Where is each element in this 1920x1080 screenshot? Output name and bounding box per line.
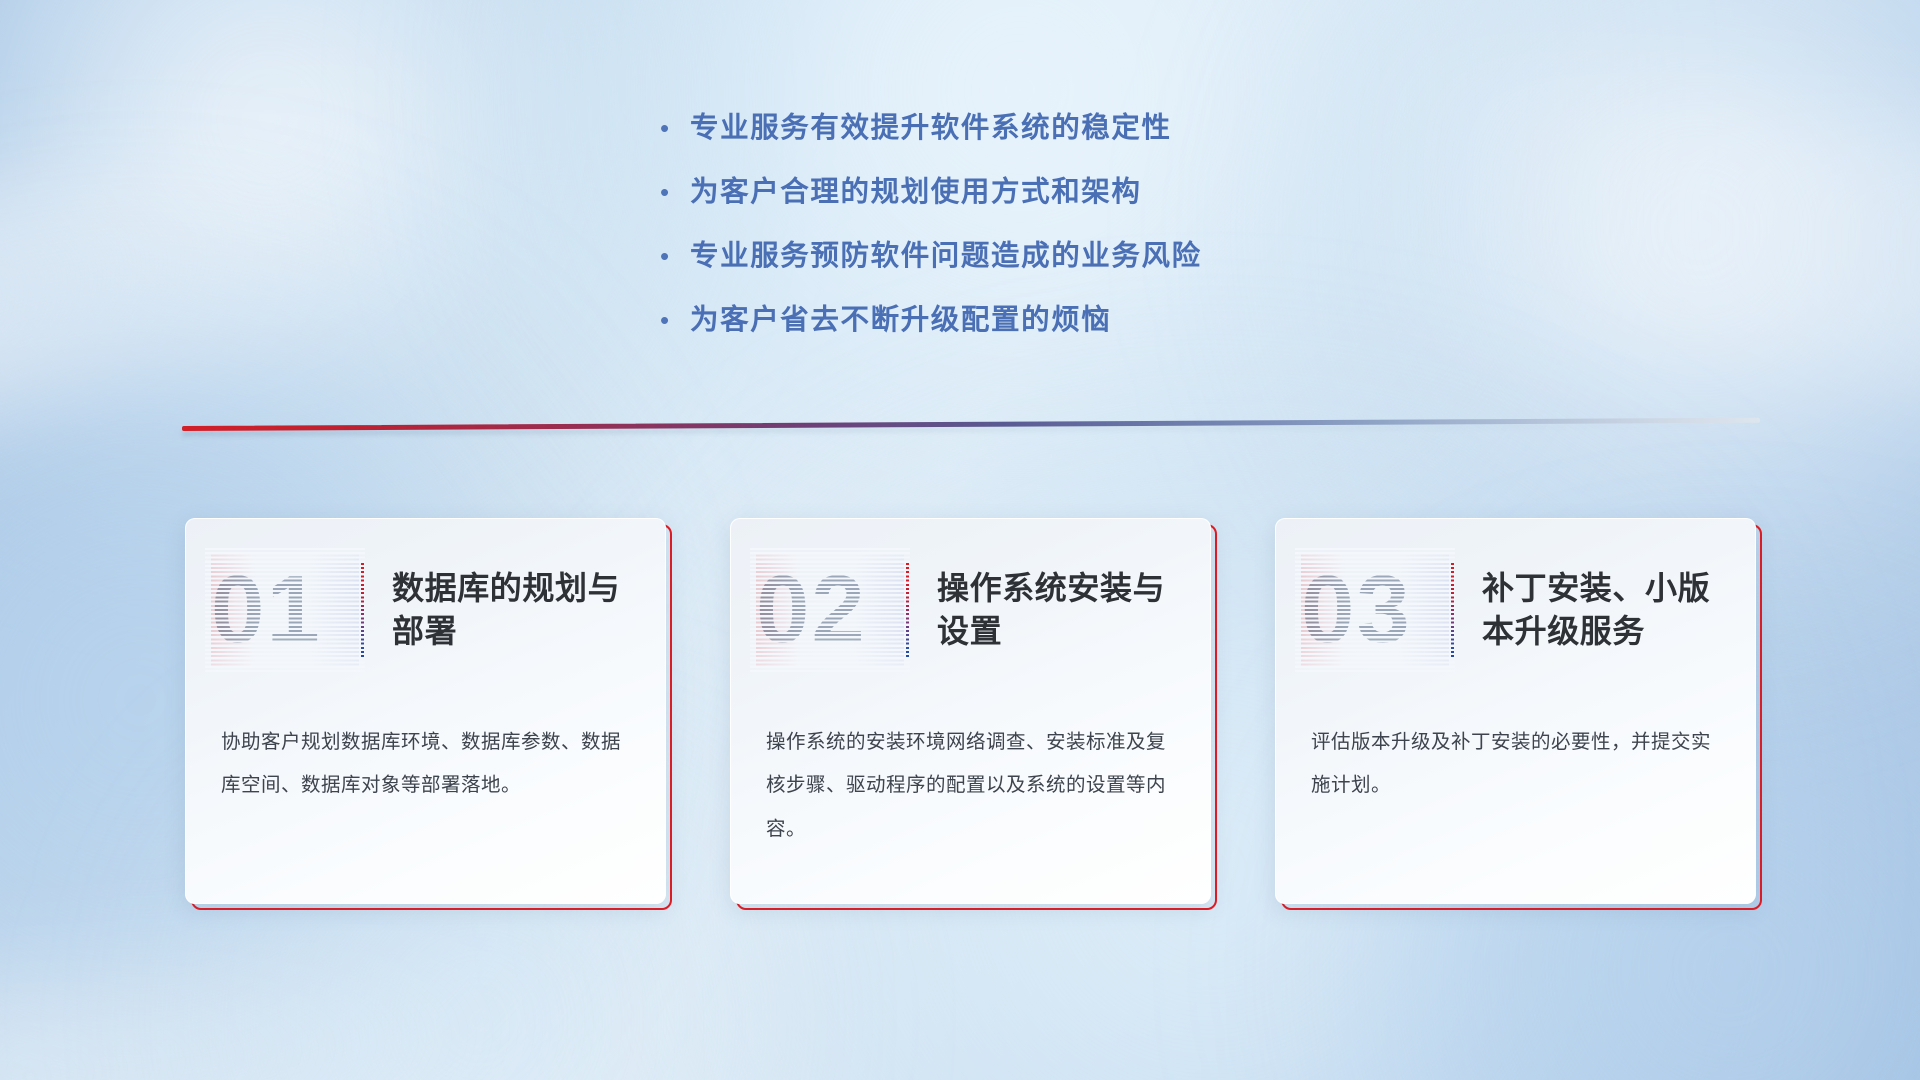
card-divider-bar [1451, 562, 1454, 658]
card-number-label: 02 [756, 552, 904, 668]
section-divider [182, 424, 1760, 438]
bullet-label: 专业服务有效提升软件系统的稳定性 [690, 105, 1172, 146]
card-header: 01 数据库的规划与部署 [185, 540, 666, 680]
card-description: 协助客户规划数据库环境、数据库参数、数据库空间、数据库对象等部署落地。 [221, 721, 633, 808]
card-title: 数据库的规划与部署 [392, 567, 648, 653]
service-card-03[interactable]: 03 补丁安装、小版本升级服务 评估版本升级及补丁安装的必要性，并提交实施计划。 [1275, 518, 1756, 904]
card-description: 评估版本升级及补丁安装的必要性，并提交实施计划。 [1311, 721, 1723, 808]
card-divider-bar [361, 562, 364, 658]
card-number-graphic: 01 [211, 552, 359, 668]
bullet-dot-icon: • [660, 243, 690, 269]
bullet-dot-icon: • [660, 115, 690, 141]
list-item: • 专业服务预防软件问题造成的业务风险 [660, 233, 1202, 297]
bullet-dot-icon: • [660, 179, 690, 205]
card-title: 补丁安装、小版本升级服务 [1482, 567, 1738, 653]
benefits-bullet-list: • 专业服务有效提升软件系统的稳定性 • 为客户合理的规划使用方式和架构 • 专… [660, 105, 1202, 361]
card-divider-bar [906, 562, 909, 658]
card-header: 03 补丁安装、小版本升级服务 [1275, 540, 1756, 680]
service-card-list: 01 数据库的规划与部署 协助客户规划数据库环境、数据库参数、数据库空间、数据库… [185, 518, 1756, 904]
card-surface: 03 补丁安装、小版本升级服务 评估版本升级及补丁安装的必要性，并提交实施计划。 [1275, 518, 1756, 904]
card-number-graphic: 03 [1301, 552, 1449, 668]
card-surface: 02 操作系统安装与设置 操作系统的安装环境网络调查、安装标准及复核步骤、驱动程… [730, 518, 1211, 904]
list-item: • 为客户省去不断升级配置的烦恼 [660, 297, 1202, 361]
card-header: 02 操作系统安装与设置 [730, 540, 1211, 680]
card-number-label: 03 [1301, 552, 1449, 668]
service-card-02[interactable]: 02 操作系统安装与设置 操作系统的安装环境网络调查、安装标准及复核步骤、驱动程… [730, 518, 1211, 904]
bullet-dot-icon: • [660, 307, 690, 333]
list-item: • 为客户合理的规划使用方式和架构 [660, 169, 1202, 233]
card-number-label: 01 [211, 552, 359, 668]
bullet-label: 为客户省去不断升级配置的烦恼 [690, 297, 1111, 338]
card-surface: 01 数据库的规划与部署 协助客户规划数据库环境、数据库参数、数据库空间、数据库… [185, 518, 666, 904]
card-title: 操作系统安装与设置 [937, 567, 1193, 653]
bullet-label: 专业服务预防软件问题造成的业务风险 [690, 233, 1202, 274]
list-item: • 专业服务有效提升软件系统的稳定性 [660, 105, 1202, 169]
service-card-01[interactable]: 01 数据库的规划与部署 协助客户规划数据库环境、数据库参数、数据库空间、数据库… [185, 518, 666, 904]
bullet-label: 为客户合理的规划使用方式和架构 [690, 169, 1142, 210]
card-description: 操作系统的安装环境网络调查、安装标准及复核步骤、驱动程序的配置以及系统的设置等内… [766, 721, 1178, 851]
card-number-graphic: 02 [756, 552, 904, 668]
